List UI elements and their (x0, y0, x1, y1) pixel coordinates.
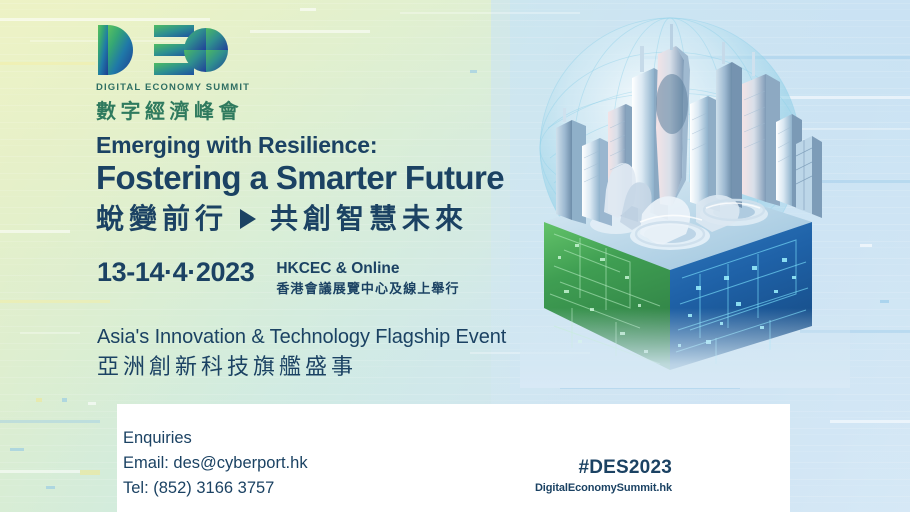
banner-canvas: DIGITAL ECONOMY SUMMIT 數字經濟峰會 (0, 0, 910, 512)
website-label[interactable]: DigitalEconomySummit.hk (535, 482, 672, 495)
headline-chinese: 蛻變前行 共創智慧未來 (96, 202, 504, 236)
headline-chinese-right: 共創智慧未來 (270, 202, 468, 236)
event-date-venue: 13-14·4·2023 HKCEC & Online 香港會議展覽中心及線上舉… (97, 258, 460, 298)
enquiries-block: Enquiries Email: des@cyberport.hk Tel: (… (123, 426, 308, 501)
venue-english: HKCEC & Online (276, 258, 459, 279)
des-logo-mark (96, 22, 236, 78)
city-illustration-svg (520, 8, 850, 388)
logo-chinese-name: 數字經濟峰會 (96, 95, 242, 124)
play-triangle-icon (240, 209, 256, 229)
headline-block: Emerging with Resilience: Fostering a Sm… (96, 132, 504, 236)
event-date: 13-14·4·2023 (97, 258, 254, 288)
enquiries-heading: Enquiries (123, 426, 308, 451)
venue-chinese: 香港會議展覽中心及線上舉行 (276, 282, 459, 299)
enquiries-tel[interactable]: Tel: (852) 3166 3757 (123, 476, 308, 501)
city-illustration (520, 8, 850, 388)
headline-chinese-left: 蛻變前行 (96, 202, 228, 236)
tagline-english: Asia's Innovation & Technology Flagship … (97, 325, 506, 350)
headline-line-1: Emerging with Resilience: (96, 132, 504, 158)
tagline-block: Asia's Innovation & Technology Flagship … (97, 325, 506, 382)
enquiries-email[interactable]: Email: des@cyberport.hk (123, 451, 308, 476)
event-venue: HKCEC & Online 香港會議展覽中心及線上舉行 (276, 258, 459, 298)
hashtag-label: #DES2023 (535, 458, 672, 479)
des-logo: DIGITAL ECONOMY SUMMIT 數字經濟峰會 (96, 22, 242, 124)
logo-english-name: DIGITAL ECONOMY SUMMIT (96, 82, 242, 93)
promo-wrap: #DES2023 DigitalEconomySummit.hk (535, 458, 672, 495)
tagline-chinese: 亞洲創新科技旗艦盛事 (97, 354, 506, 382)
headline-line-2: Fostering a Smarter Future (96, 159, 504, 198)
